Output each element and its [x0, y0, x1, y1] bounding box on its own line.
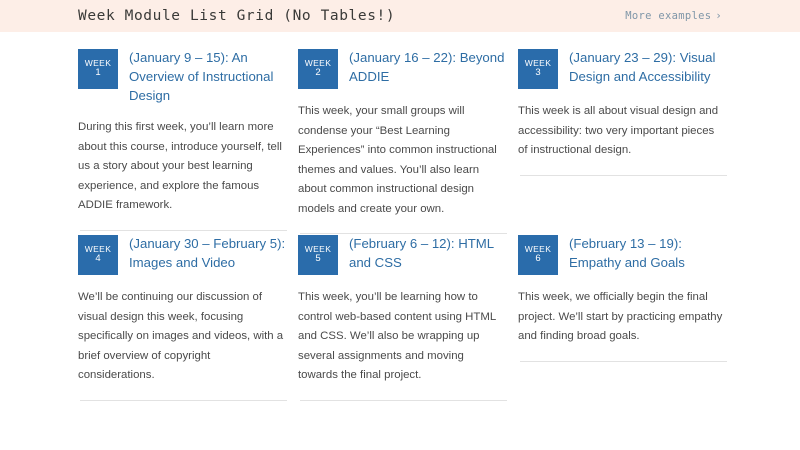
week-divider — [80, 400, 287, 401]
week-module-item: WEEK 1 (January 9 – 15): An Overview of … — [78, 48, 288, 234]
week-badge: WEEK 1 — [78, 49, 118, 89]
week-divider — [300, 400, 507, 401]
week-header: WEEK 1 (January 9 – 15): An Overview of … — [78, 48, 288, 105]
week-description: During this first week, you’ll learn mor… — [78, 118, 285, 216]
week-title: (January 9 – 15): An Overview of Instruc… — [129, 48, 288, 105]
week-badge: WEEK 5 — [298, 235, 338, 275]
week-title: (February 13 – 19): Empathy and Goals — [569, 234, 728, 272]
page-header: Week Module List Grid (No Tables!) More … — [0, 0, 800, 32]
more-examples-link[interactable]: More examples › — [625, 10, 722, 22]
week-description: This week, your small groups will conden… — [298, 102, 505, 219]
week-divider — [80, 230, 287, 231]
week-header: WEEK 6 (February 13 – 19): Empathy and G… — [518, 234, 728, 275]
week-module-item: WEEK 2 (January 16 – 22): Beyond ADDIE T… — [298, 48, 508, 234]
week-header: WEEK 4 (January 30 – February 5): Images… — [78, 234, 288, 275]
week-title: (January 16 – 22): Beyond ADDIE — [349, 48, 508, 86]
week-badge: WEEK 4 — [78, 235, 118, 275]
week-module-item: WEEK 5 (February 6 – 12): HTML and CSS T… — [298, 234, 508, 409]
week-divider — [520, 361, 727, 362]
week-module-grid: WEEK 1 (January 9 – 15): An Overview of … — [0, 32, 800, 409]
week-badge-number: 2 — [315, 68, 320, 79]
week-module-item: WEEK 3 (January 23 – 29): Visual Design … — [518, 48, 728, 234]
week-badge-number: 5 — [315, 254, 320, 265]
week-badge: WEEK 3 — [518, 49, 558, 89]
week-module-item: WEEK 6 (February 13 – 19): Empathy and G… — [518, 234, 728, 409]
week-divider — [520, 175, 727, 176]
week-description: We’ll be continuing our discussion of vi… — [78, 288, 285, 386]
week-title: (January 30 – February 5): Images and Vi… — [129, 234, 288, 272]
week-description: This week, we officially begin the final… — [518, 288, 725, 347]
week-header: WEEK 3 (January 23 – 29): Visual Design … — [518, 48, 728, 89]
more-examples-label: More examples — [625, 10, 711, 22]
week-description: This week, you’ll be learning how to con… — [298, 288, 505, 386]
week-title: (January 23 – 29): Visual Design and Acc… — [569, 48, 728, 86]
chevron-right-icon: › — [715, 11, 722, 22]
week-badge-number: 6 — [535, 254, 540, 265]
week-title: (February 6 – 12): HTML and CSS — [349, 234, 508, 272]
week-badge-number: 1 — [95, 68, 100, 79]
week-header: WEEK 2 (January 16 – 22): Beyond ADDIE — [298, 48, 508, 89]
week-description: This week is all about visual design and… — [518, 102, 725, 161]
week-badge: WEEK 2 — [298, 49, 338, 89]
week-badge-number: 4 — [95, 254, 100, 265]
week-module-item: WEEK 4 (January 30 – February 5): Images… — [78, 234, 288, 409]
page-title: Week Module List Grid (No Tables!) — [78, 8, 395, 24]
week-header: WEEK 5 (February 6 – 12): HTML and CSS — [298, 234, 508, 275]
week-badge: WEEK 6 — [518, 235, 558, 275]
week-badge-number: 3 — [535, 68, 540, 79]
